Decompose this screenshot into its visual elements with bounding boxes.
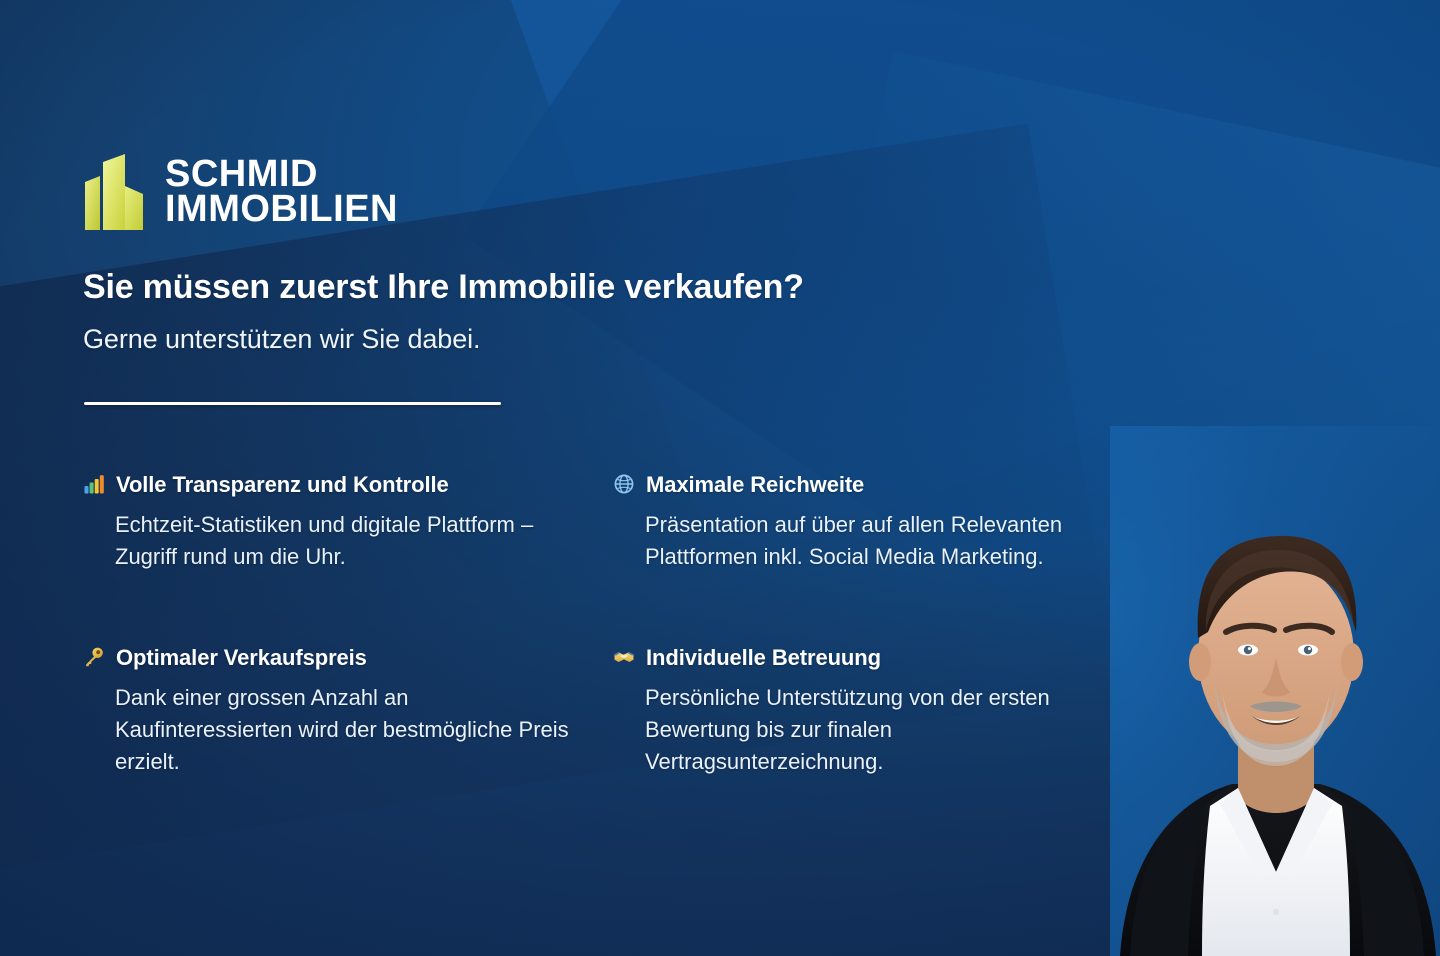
feature-header: Optimaler Verkaufspreis [83,645,613,671]
feature-item: Optimaler Verkaufspreis Dank einer gross… [83,645,613,778]
feature-item: Volle Transparenz und Kontrolle Echtzeit… [83,472,613,573]
page-title: Sie müssen zuerst Ihre Immobilie verkauf… [83,268,804,307]
globe-icon [613,473,638,495]
feature-header: Individuelle Betreuung [613,645,1143,671]
feature-title: Individuelle Betreuung [646,645,881,671]
slide-content: SCHMID IMMOBILIEN Sie müssen zuerst Ihre… [0,0,1440,956]
bar-chart-icon [83,473,108,495]
building-logo-icon [83,152,145,232]
feature-description: Präsentation auf über auf allen Relevant… [645,509,1115,573]
feature-description: Persönliche Unterstützung von der ersten… [645,682,1115,778]
brand-line-2: IMMOBILIEN [165,192,398,227]
feature-header: Maximale Reichweite [613,472,1143,498]
feature-item: Maximale Reichweite Präsentation auf übe… [613,472,1143,573]
brand-logo: SCHMID IMMOBILIEN [83,152,398,232]
feature-description: Dank einer grossen Anzahl an Kaufinteres… [115,682,585,778]
feature-title: Optimaler Verkaufspreis [116,645,367,671]
page-subtitle: Gerne unterstützen wir Sie dabei. [83,324,480,355]
brand-wordmark: SCHMID IMMOBILIEN [165,157,398,228]
feature-grid: Volle Transparenz und Kontrolle Echtzeit… [83,472,1193,777]
feature-title: Maximale Reichweite [646,472,864,498]
marketing-slide: SCHMID IMMOBILIEN Sie müssen zuerst Ihre… [0,0,1440,956]
brand-line-1: SCHMID [165,157,398,192]
divider [84,402,501,405]
feature-title: Volle Transparenz und Kontrolle [116,472,449,498]
feature-description: Echtzeit-Statistiken und digitale Plattf… [115,509,585,573]
handshake-icon [613,646,638,668]
feature-header: Volle Transparenz und Kontrolle [83,472,613,498]
key-icon [83,646,108,668]
feature-item: Individuelle Betreuung Persönliche Unter… [613,645,1143,778]
